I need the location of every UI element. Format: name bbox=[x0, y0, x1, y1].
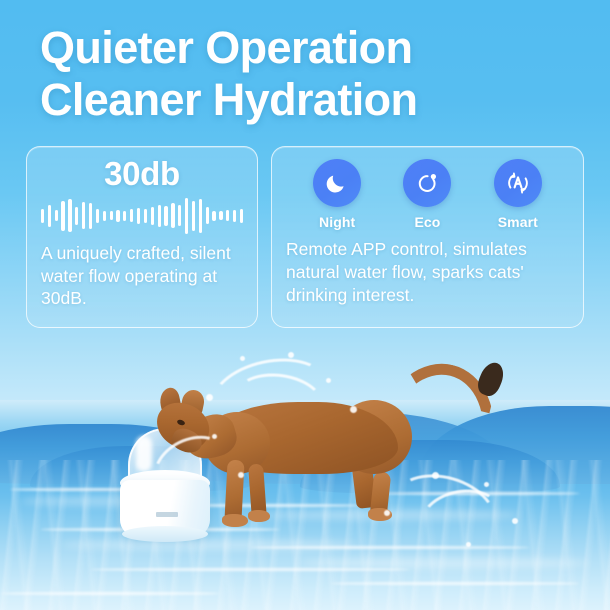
waveform-bar bbox=[137, 208, 140, 224]
waveform-bar bbox=[185, 198, 188, 234]
noise-card-description: A uniquely crafted, silent water flow op… bbox=[41, 242, 243, 310]
waveform-bar bbox=[199, 199, 202, 233]
mode-icon-circle bbox=[494, 159, 542, 207]
headline-line-2: Cleaner Hydration bbox=[40, 74, 580, 126]
product-feature-banner: Quieter Operation Cleaner Hydration 30db… bbox=[0, 0, 610, 610]
cat-front-leg bbox=[224, 460, 244, 523]
ripple bbox=[250, 546, 530, 549]
waveform-bar bbox=[164, 206, 167, 226]
ripple bbox=[90, 568, 410, 571]
feature-cards: 30db A uniquely crafted, silent water fl… bbox=[26, 146, 584, 328]
waveform-bar bbox=[55, 210, 58, 221]
headline-line-1: Quieter Operation bbox=[40, 22, 580, 74]
ripple bbox=[300, 558, 590, 568]
waveform-bar bbox=[130, 209, 133, 222]
waveform-bar bbox=[48, 205, 51, 227]
mode-item-night[interactable]: Night bbox=[294, 159, 380, 230]
modes-card-description: Remote APP control, simulates natural wa… bbox=[286, 238, 569, 306]
cat-illustration bbox=[150, 368, 510, 533]
waveform-bar bbox=[75, 207, 78, 225]
eco-refresh-icon bbox=[414, 170, 440, 196]
waveform-bar bbox=[144, 209, 147, 223]
mode-icon-circle bbox=[403, 159, 451, 207]
waveform-bar bbox=[212, 211, 215, 221]
mode-label-night: Night bbox=[294, 214, 380, 230]
audio-waveform-icon bbox=[41, 196, 243, 236]
auto-mode-icon bbox=[504, 169, 532, 197]
mode-label-eco: Eco bbox=[384, 214, 470, 230]
cat-paw bbox=[222, 514, 248, 527]
cat-paw bbox=[248, 510, 270, 522]
page-title: Quieter Operation Cleaner Hydration bbox=[40, 22, 580, 126]
cat-paw bbox=[368, 508, 392, 521]
waveform-bar bbox=[171, 203, 174, 228]
waveform-bar bbox=[192, 201, 195, 231]
waveform-bar bbox=[103, 211, 106, 221]
mode-item-eco[interactable]: Eco bbox=[384, 159, 470, 230]
ripple bbox=[330, 582, 580, 585]
ripple bbox=[0, 592, 220, 595]
waveform-bar bbox=[116, 210, 119, 222]
waveform-bar bbox=[68, 199, 71, 232]
waveform-bar bbox=[96, 209, 99, 223]
waveform-bar bbox=[82, 202, 85, 229]
waveform-bar bbox=[41, 209, 44, 223]
waveform-bar bbox=[178, 205, 181, 226]
mode-item-smart[interactable]: Smart bbox=[475, 159, 561, 230]
waveform-bar bbox=[110, 211, 113, 220]
waveform-bar bbox=[233, 210, 236, 222]
waveform-bar bbox=[151, 207, 154, 225]
mode-icon-circle bbox=[313, 159, 361, 207]
moon-icon bbox=[324, 170, 350, 196]
decibel-value: 30db bbox=[41, 157, 243, 192]
waveform-bar bbox=[240, 209, 243, 223]
waveform-bar bbox=[89, 203, 92, 229]
waveform-bar bbox=[206, 207, 209, 224]
noise-level-card: 30db A uniquely crafted, silent water fl… bbox=[26, 146, 258, 328]
mode-label-smart: Smart bbox=[475, 214, 561, 230]
waveform-bar bbox=[158, 205, 161, 227]
modes-card: Night Eco bbox=[271, 146, 584, 328]
waveform-bar bbox=[123, 211, 126, 221]
waveform-bar bbox=[226, 210, 229, 221]
waveform-bar bbox=[61, 201, 64, 231]
waveform-bar bbox=[219, 211, 222, 220]
mode-list: Night Eco bbox=[286, 157, 569, 230]
